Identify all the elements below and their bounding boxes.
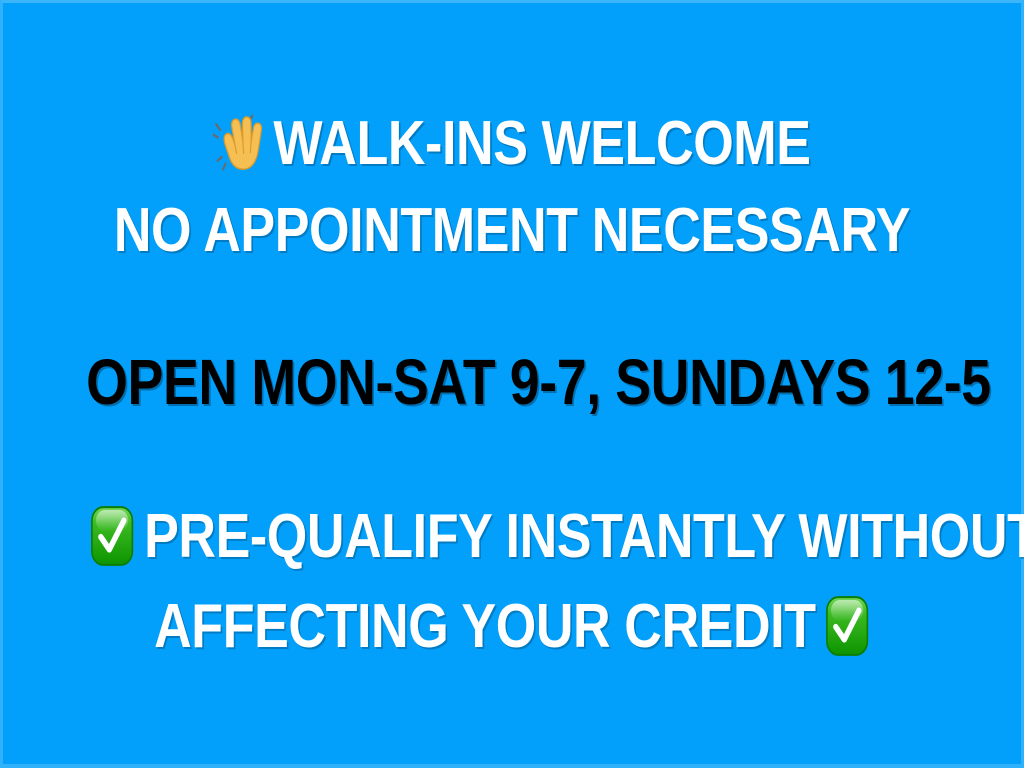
line-no-appointment-necessary-text: NO APPOINTMENT NECESSARY	[114, 196, 910, 265]
line-walk-ins-welcome-text: WALK-INS WELCOME	[274, 109, 811, 178]
promo-sign-slide: WALK-INS WELCOME NO APPOINTMENT NECESSAR…	[0, 0, 1024, 768]
line-open-hours: OPEN MON-SAT 9-7, SUNDAYS 12-5	[0, 350, 1024, 414]
line-open-hours-text: OPEN MON-SAT 9-7, SUNDAYS 12-5	[86, 346, 991, 418]
line-pre-qualify-instantly-without: PRE-QUALIFY INSTANTLY WITHOUT	[0, 505, 1024, 568]
line-walk-ins-welcome: WALK-INS WELCOME	[0, 112, 1024, 175]
line-pre-qualify-instantly-without-text: PRE-QUALIFY INSTANTLY WITHOUT	[144, 502, 1024, 571]
waving-hand-icon	[213, 112, 263, 174]
line-no-appointment-necessary: NO APPOINTMENT NECESSARY	[0, 200, 1024, 262]
white-check-mark-icon	[826, 595, 870, 657]
line-affecting-your-credit-text: AFFECTING YOUR CREDIT	[154, 592, 815, 661]
white-check-mark-icon	[90, 505, 134, 567]
line-affecting-your-credit: AFFECTING YOUR CREDIT	[0, 595, 1024, 658]
